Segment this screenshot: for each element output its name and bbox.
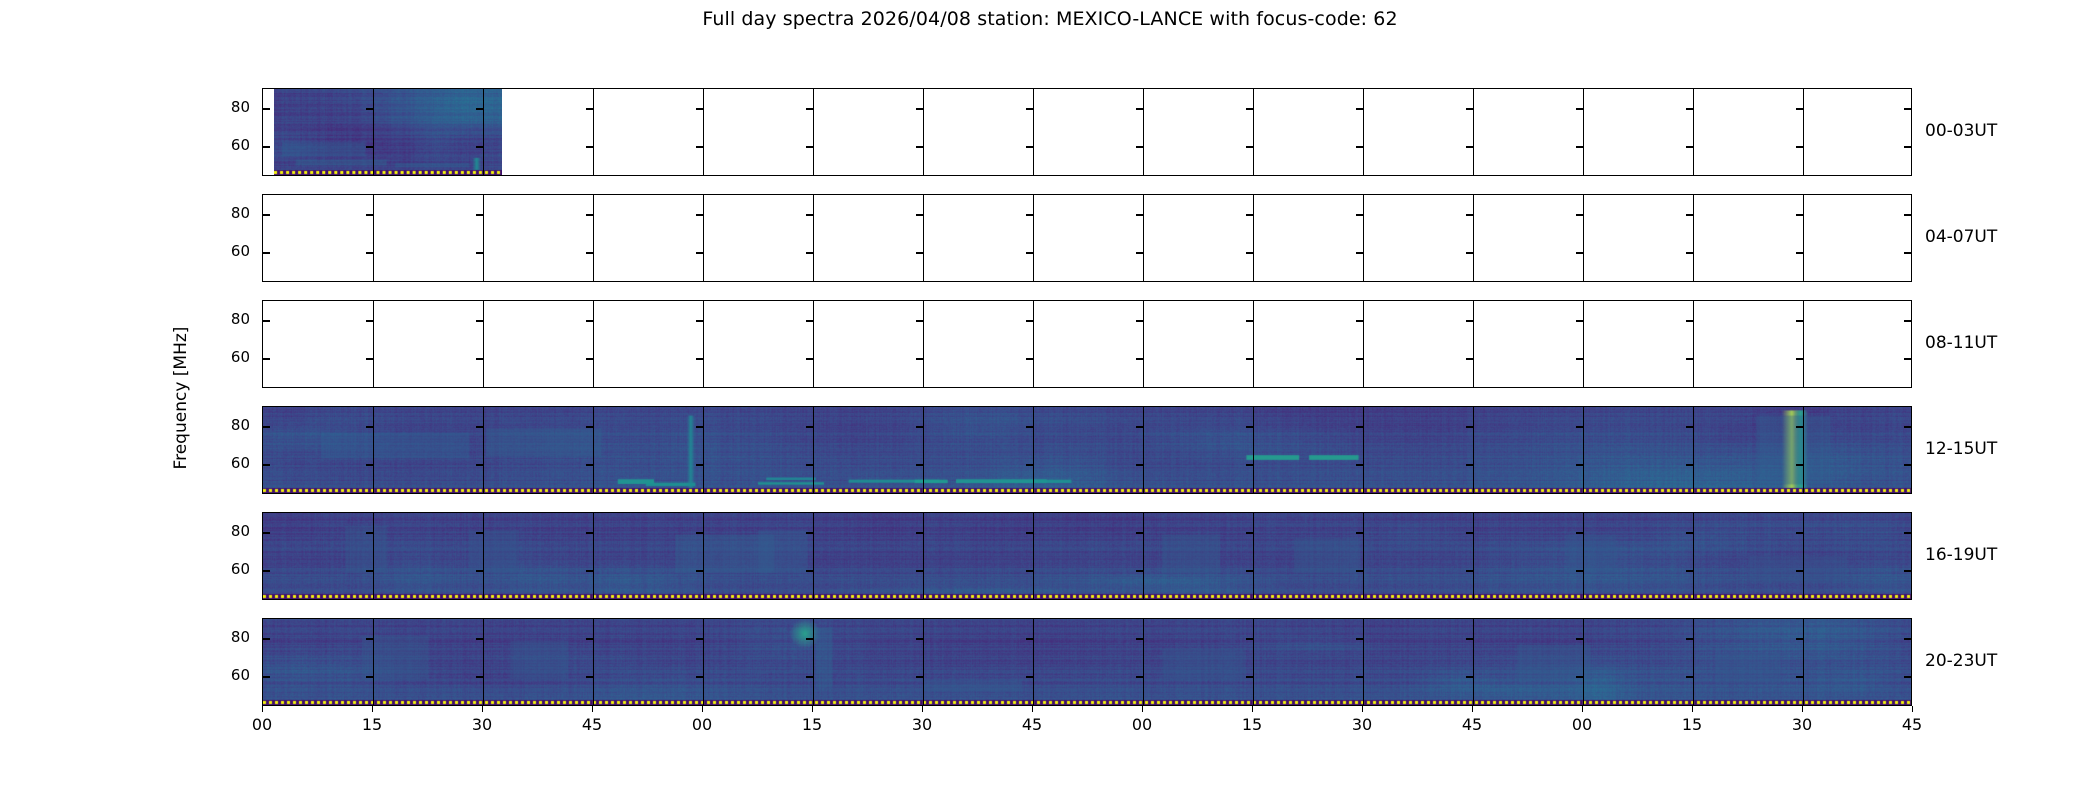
y-tick-label: 60	[0, 666, 250, 684]
y-tick-mark	[1136, 214, 1143, 215]
segment-divider	[593, 195, 594, 281]
x-tick-label: 30	[472, 715, 492, 734]
x-tick-mark	[372, 706, 373, 712]
segment-divider	[813, 195, 814, 281]
spectrogram-panel-00-03ut[interactable]	[262, 88, 1912, 176]
y-tick-label: 80	[0, 204, 250, 222]
spectrogram-panel-16-19ut[interactable]	[262, 512, 1912, 600]
x-tick-mark	[702, 706, 703, 712]
y-tick-mark	[806, 320, 813, 321]
y-tick-mark	[1904, 532, 1911, 533]
y-tick-mark	[696, 252, 703, 253]
y-tick-mark	[263, 320, 270, 321]
y-tick-mark	[1356, 214, 1363, 215]
segment-divider	[1693, 195, 1694, 281]
x-tick-label: 45	[1022, 715, 1042, 734]
segment-divider	[923, 195, 924, 281]
segment-divider	[1583, 301, 1584, 387]
y-tick-mark	[1026, 214, 1033, 215]
spectrogram-image	[263, 619, 1912, 705]
y-tick-label: 80	[0, 416, 250, 434]
panel-row-label-00-03ut: 00-03UT	[1925, 121, 1997, 141]
x-tick-mark	[482, 706, 483, 712]
y-tick-mark	[1686, 146, 1693, 147]
segment-divider	[373, 195, 374, 281]
y-tick-mark	[1904, 464, 1911, 465]
segment-divider	[923, 89, 924, 175]
y-tick-mark	[1136, 358, 1143, 359]
x-tick-label: 45	[1902, 715, 1922, 734]
segment-divider	[483, 301, 484, 387]
panel-row-label-12-15ut: 12-15UT	[1925, 439, 1997, 459]
y-tick-label: 80	[0, 628, 250, 646]
y-tick-mark	[1904, 676, 1911, 677]
y-tick-mark	[806, 108, 813, 109]
y-tick-mark	[916, 146, 923, 147]
y-tick-mark	[1796, 214, 1803, 215]
x-tick-mark	[922, 706, 923, 712]
y-tick-mark	[1686, 108, 1693, 109]
segment-divider	[1253, 89, 1254, 175]
y-tick-mark	[1466, 320, 1473, 321]
y-tick-mark	[1904, 570, 1911, 571]
y-tick-label: 60	[0, 136, 250, 154]
spectrogram-figure: Full day spectra 2026/04/08 station: MEX…	[0, 0, 2100, 800]
segment-divider	[1143, 89, 1144, 175]
x-tick-mark	[1472, 706, 1473, 712]
y-tick-mark	[476, 214, 483, 215]
x-tick-mark	[1582, 706, 1583, 712]
segment-divider	[373, 301, 374, 387]
y-tick-mark	[1356, 146, 1363, 147]
y-tick-mark	[1026, 108, 1033, 109]
y-tick-mark	[1246, 214, 1253, 215]
y-tick-mark	[1796, 108, 1803, 109]
y-tick-mark	[1026, 146, 1033, 147]
y-tick-mark	[586, 146, 593, 147]
segment-divider	[1253, 301, 1254, 387]
segment-divider	[1583, 89, 1584, 175]
panel-row-label-20-23ut: 20-23UT	[1925, 651, 1997, 671]
x-tick-mark	[1362, 706, 1363, 712]
y-tick-mark	[1904, 320, 1911, 321]
segment-divider	[1033, 89, 1034, 175]
y-tick-mark	[916, 108, 923, 109]
segment-divider	[593, 301, 594, 387]
x-tick-label: 15	[362, 715, 382, 734]
segment-divider	[813, 89, 814, 175]
x-tick-mark	[1692, 706, 1693, 712]
y-tick-mark	[366, 214, 373, 215]
y-tick-label: 80	[0, 522, 250, 540]
segment-divider	[1693, 89, 1694, 175]
y-tick-mark	[366, 252, 373, 253]
y-tick-mark	[263, 426, 270, 427]
x-tick-mark	[1252, 706, 1253, 712]
y-tick-mark	[1686, 320, 1693, 321]
x-tick-mark	[262, 706, 263, 712]
y-tick-mark	[1796, 320, 1803, 321]
x-tick-label: 15	[802, 715, 822, 734]
spectrogram-image	[263, 407, 1912, 493]
spectrogram-panel-04-07ut[interactable]	[262, 194, 1912, 282]
y-tick-mark	[1356, 358, 1363, 359]
x-tick-label: 00	[1132, 715, 1152, 734]
panel-row-label-08-11ut: 08-11UT	[1925, 333, 1997, 353]
segment-divider	[1033, 195, 1034, 281]
y-tick-mark	[1246, 252, 1253, 253]
y-tick-mark	[1576, 214, 1583, 215]
x-tick-mark	[1802, 706, 1803, 712]
segment-divider	[1473, 195, 1474, 281]
y-tick-mark	[1904, 358, 1911, 359]
x-tick-mark	[1142, 706, 1143, 712]
segment-divider	[703, 301, 704, 387]
y-tick-label: 60	[0, 560, 250, 578]
y-tick-mark	[1136, 146, 1143, 147]
y-tick-mark	[806, 146, 813, 147]
segment-divider	[483, 195, 484, 281]
x-tick-mark	[1912, 706, 1913, 712]
x-tick-label: 45	[1462, 715, 1482, 734]
y-tick-mark	[1466, 146, 1473, 147]
x-tick-label: 30	[912, 715, 932, 734]
y-tick-mark	[366, 320, 373, 321]
y-tick-mark	[1026, 252, 1033, 253]
segment-divider	[593, 89, 594, 175]
y-tick-label: 60	[0, 348, 250, 366]
segment-divider	[1143, 301, 1144, 387]
spectrogram-image	[274, 89, 501, 175]
y-tick-mark	[1136, 108, 1143, 109]
y-tick-mark	[263, 532, 270, 533]
y-tick-mark	[696, 146, 703, 147]
segment-divider	[1253, 195, 1254, 281]
y-tick-mark	[1356, 320, 1363, 321]
panel-row-label-04-07ut: 04-07UT	[1925, 227, 1997, 247]
y-tick-mark	[1576, 358, 1583, 359]
y-tick-mark	[263, 214, 270, 215]
segment-divider	[813, 301, 814, 387]
segment-divider	[923, 301, 924, 387]
x-tick-label: 30	[1792, 715, 1812, 734]
y-tick-mark	[586, 358, 593, 359]
y-tick-mark	[586, 108, 593, 109]
y-tick-mark	[1576, 320, 1583, 321]
segment-divider	[1803, 195, 1804, 281]
y-tick-mark	[696, 214, 703, 215]
y-tick-mark	[1136, 320, 1143, 321]
segment-divider	[1473, 89, 1474, 175]
y-tick-mark	[1246, 108, 1253, 109]
y-tick-mark	[696, 108, 703, 109]
spectrogram-panel-08-11ut[interactable]	[262, 300, 1912, 388]
y-tick-mark	[1686, 252, 1693, 253]
y-tick-label: 60	[0, 454, 250, 472]
x-tick-label: 15	[1242, 715, 1262, 734]
y-tick-mark	[1466, 358, 1473, 359]
y-tick-mark	[476, 252, 483, 253]
segment-divider	[1693, 301, 1694, 387]
y-tick-mark	[263, 676, 270, 677]
y-tick-label: 80	[0, 310, 250, 328]
y-tick-mark	[1026, 358, 1033, 359]
y-tick-mark	[263, 146, 270, 147]
segment-divider	[1363, 195, 1364, 281]
y-tick-mark	[1466, 108, 1473, 109]
segment-divider	[1033, 301, 1034, 387]
y-tick-mark	[1686, 214, 1693, 215]
segment-divider	[1473, 301, 1474, 387]
y-tick-mark	[476, 320, 483, 321]
y-tick-mark	[1904, 214, 1911, 215]
y-tick-mark	[263, 464, 270, 465]
y-tick-mark	[1904, 146, 1911, 147]
y-tick-mark	[806, 358, 813, 359]
spectrogram-panel-12-15ut[interactable]	[262, 406, 1912, 494]
y-tick-mark	[916, 252, 923, 253]
y-tick-mark	[476, 358, 483, 359]
y-tick-mark	[1904, 108, 1911, 109]
segment-divider	[1583, 195, 1584, 281]
x-tick-mark	[812, 706, 813, 712]
y-tick-mark	[1576, 108, 1583, 109]
x-tick-mark	[592, 706, 593, 712]
y-tick-mark	[1796, 358, 1803, 359]
x-tick-label: 30	[1352, 715, 1372, 734]
y-tick-mark	[916, 358, 923, 359]
y-tick-mark	[1686, 358, 1693, 359]
y-tick-mark	[1796, 146, 1803, 147]
segment-divider	[1363, 89, 1364, 175]
y-tick-label: 80	[0, 98, 250, 116]
segment-divider	[1143, 195, 1144, 281]
y-tick-mark	[1466, 252, 1473, 253]
y-tick-mark	[1904, 426, 1911, 427]
segment-divider	[1803, 89, 1804, 175]
y-tick-mark	[696, 320, 703, 321]
y-tick-mark	[1246, 320, 1253, 321]
y-tick-mark	[1356, 252, 1363, 253]
y-tick-mark	[1576, 146, 1583, 147]
y-tick-mark	[916, 214, 923, 215]
y-tick-mark	[1356, 108, 1363, 109]
y-tick-mark	[586, 214, 593, 215]
y-tick-mark	[366, 358, 373, 359]
y-tick-mark	[1026, 320, 1033, 321]
segment-divider	[703, 195, 704, 281]
segment-divider	[703, 89, 704, 175]
x-tick-label: 00	[692, 715, 712, 734]
segment-divider	[1803, 301, 1804, 387]
y-tick-mark	[696, 358, 703, 359]
y-tick-mark	[1246, 358, 1253, 359]
x-tick-label: 00	[252, 715, 272, 734]
y-tick-mark	[586, 252, 593, 253]
y-tick-mark	[263, 358, 270, 359]
page-title: Full day spectra 2026/04/08 station: MEX…	[0, 8, 2100, 30]
y-tick-mark	[263, 638, 270, 639]
y-tick-mark	[1576, 252, 1583, 253]
spectrogram-image	[263, 513, 1912, 599]
y-tick-mark	[1246, 146, 1253, 147]
y-tick-mark	[806, 252, 813, 253]
y-tick-mark	[263, 108, 270, 109]
y-tick-mark	[263, 570, 270, 571]
y-tick-mark	[806, 214, 813, 215]
y-tick-mark	[1466, 214, 1473, 215]
x-tick-label: 45	[582, 715, 602, 734]
segment-divider	[1363, 301, 1364, 387]
y-tick-mark	[1904, 638, 1911, 639]
y-tick-mark	[586, 320, 593, 321]
spectrogram-panel-20-23ut[interactable]	[262, 618, 1912, 706]
x-tick-label: 00	[1572, 715, 1592, 734]
x-tick-label: 15	[1682, 715, 1702, 734]
y-tick-mark	[1136, 252, 1143, 253]
y-tick-mark	[916, 320, 923, 321]
y-tick-mark	[263, 252, 270, 253]
panel-row-label-16-19ut: 16-19UT	[1925, 545, 1997, 565]
y-tick-label: 60	[0, 242, 250, 260]
y-tick-mark	[1904, 252, 1911, 253]
y-tick-mark	[1796, 252, 1803, 253]
x-tick-mark	[1032, 706, 1033, 712]
